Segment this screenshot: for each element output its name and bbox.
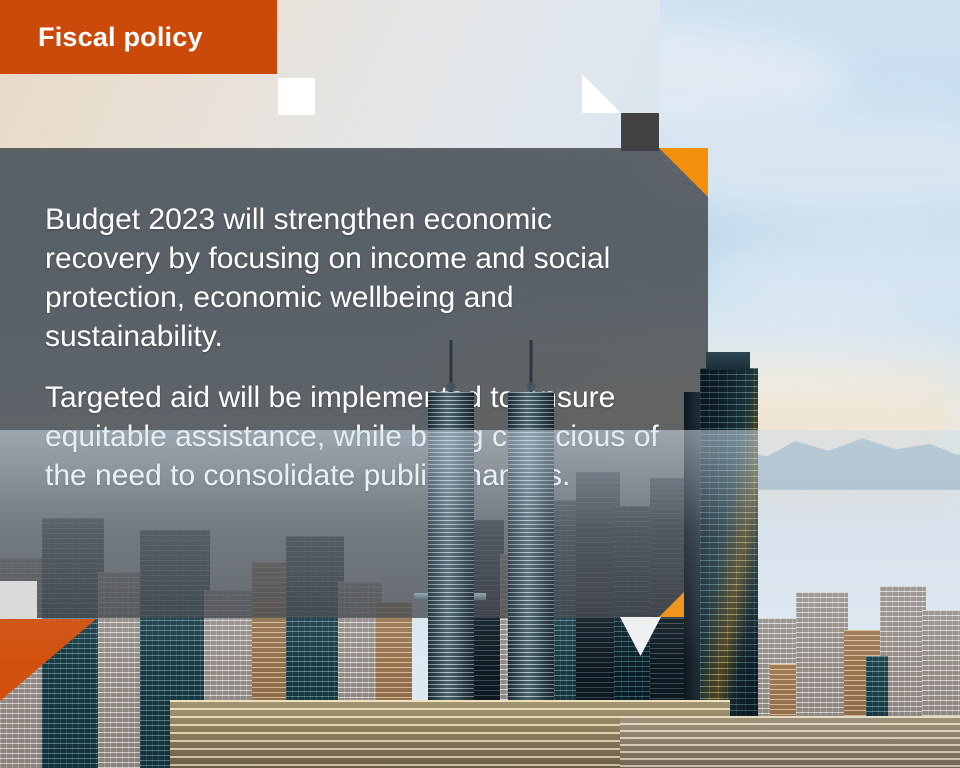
square-white-top-icon bbox=[278, 78, 315, 115]
square-white-bottom-icon bbox=[0, 581, 37, 618]
paragraph-1: Budget 2023 will strengthen economic rec… bbox=[45, 200, 665, 356]
tower-ball bbox=[527, 382, 536, 391]
page-title: Fiscal policy bbox=[38, 22, 203, 53]
petronas-tower-right bbox=[508, 392, 554, 752]
tower-ball bbox=[447, 382, 456, 391]
tower-shaft bbox=[508, 392, 554, 752]
slide: Fiscal policy Budget 2023 will strengthe… bbox=[0, 0, 960, 768]
tower-shaft bbox=[428, 392, 474, 752]
mall-podium-secondary bbox=[620, 716, 960, 768]
header-bar: Fiscal policy bbox=[0, 0, 277, 74]
petronas-tower-left bbox=[428, 392, 474, 752]
tower-crown bbox=[706, 352, 750, 370]
panel-body-text: Budget 2023 will strengthen economic rec… bbox=[45, 200, 665, 495]
square-dark-top-icon bbox=[621, 113, 659, 151]
paragraph-2: Targeted aid will be implemented to ensu… bbox=[45, 378, 665, 495]
